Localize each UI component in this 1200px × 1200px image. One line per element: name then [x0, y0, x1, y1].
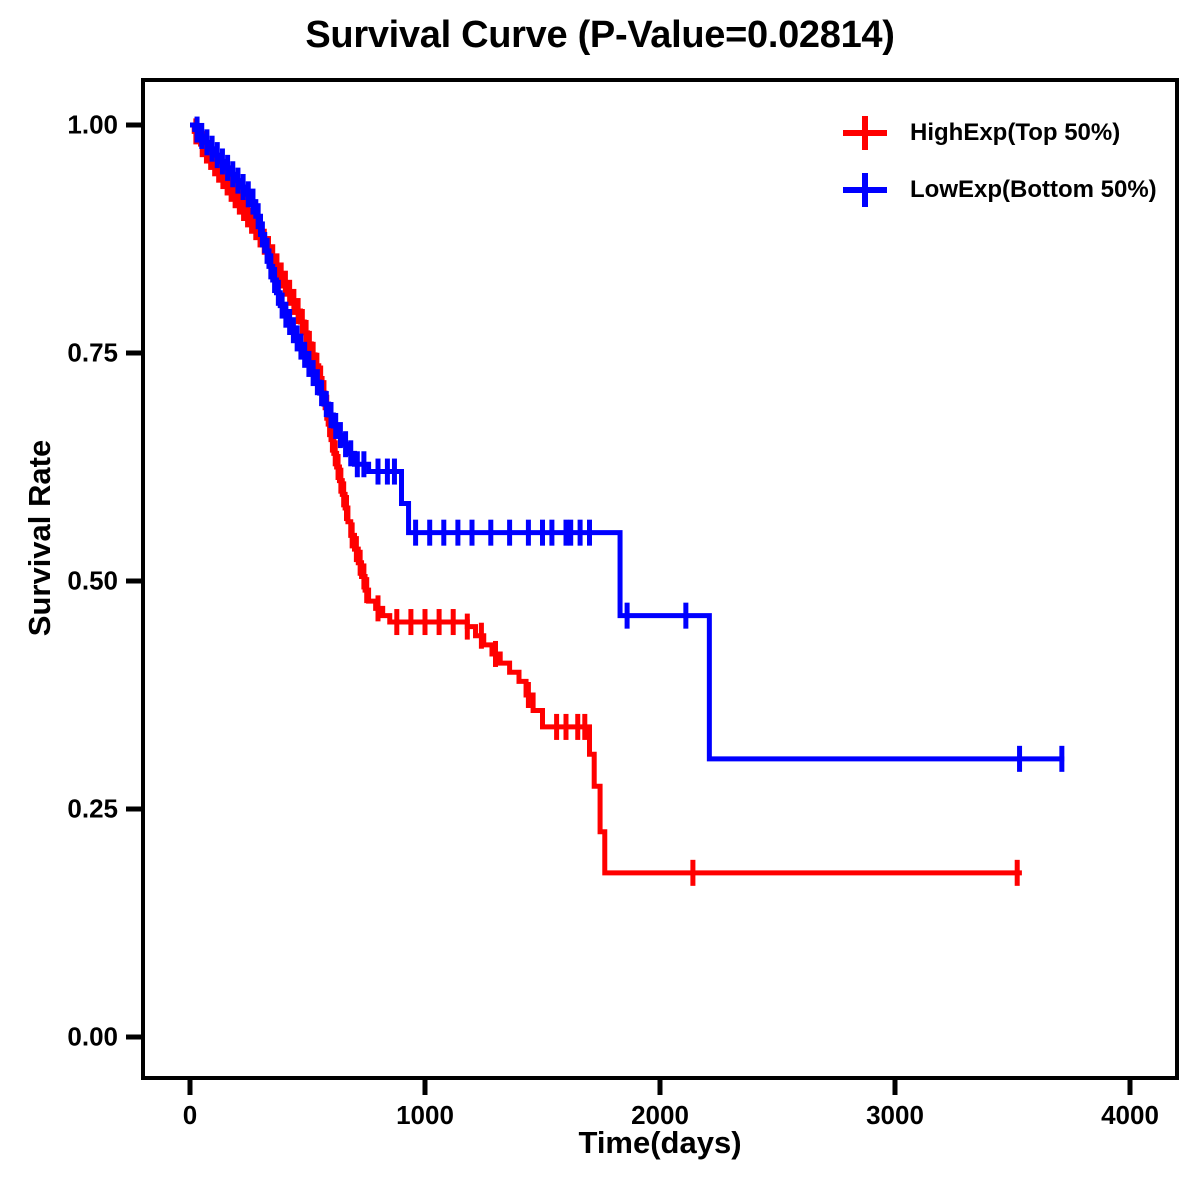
legend-label-0: HighExp(Top 50%)	[910, 119, 1120, 147]
plot-frame	[143, 80, 1177, 1078]
y-tick-label: 0.75	[0, 338, 118, 369]
survival-series	[190, 117, 1064, 886]
y-tick-label: 0.25	[0, 794, 118, 825]
x-tick-label: 4000	[1101, 1100, 1159, 1131]
x-tick-label: 2000	[631, 1100, 689, 1131]
x-tick-label: 1000	[396, 1100, 454, 1131]
legend-markers	[843, 116, 887, 207]
y-tick-label: 0.50	[0, 566, 118, 597]
survival-step-line-1	[190, 125, 1064, 759]
legend-label-1: LowExp(Bottom 50%)	[910, 176, 1157, 204]
x-tick-label: 0	[183, 1100, 197, 1131]
y-tick-label: 0.00	[0, 1022, 118, 1053]
x-tick-label: 3000	[866, 1100, 924, 1131]
survival-curve-figure: Survival Curve (P-Value=0.02814) Surviva…	[0, 0, 1200, 1200]
y-tick-label: 1.00	[0, 110, 118, 141]
